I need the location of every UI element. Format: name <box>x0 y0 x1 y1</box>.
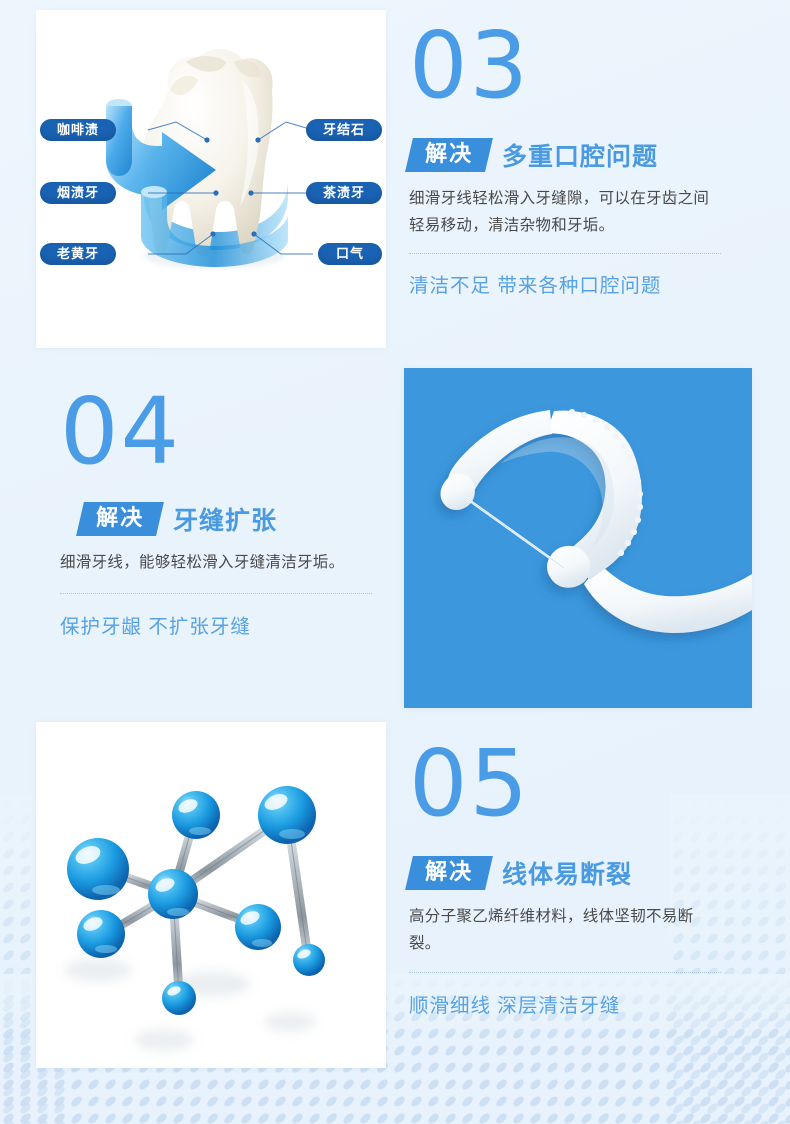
tooth-label-smoke-stain: 烟渍牙 <box>40 182 116 204</box>
section-05-title: 线体易断裂 <box>502 855 632 891</box>
molecule-image-card <box>36 722 386 1068</box>
section-04-body: 细滑牙线，能够轻松滑入牙缝清洁牙垢。 <box>60 550 365 577</box>
tooth-label-bad-breath: 口气 <box>318 243 382 265</box>
section-05-divider <box>409 972 721 973</box>
section-05: 05 解决 线体易断裂 高分子聚乙烯纤维材料，线体坚韧不易断裂。 顺滑细线 深层… <box>409 740 749 1018</box>
section-04-title: 牙缝扩张 <box>173 501 277 537</box>
solve-badge-04: 解决 <box>76 502 164 536</box>
section-03-tagline: 清洁不足 带来各种口腔问题 <box>409 269 749 298</box>
section-05-heading: 解决 线体易断裂 <box>409 855 749 891</box>
section-03-heading: 解决 多重口腔问题 <box>409 137 749 173</box>
tooth-label-tartar: 牙结石 <box>306 119 382 141</box>
section-04: 04 解决 牙缝扩张 细滑牙线，能够轻松滑入牙缝清洁牙垢。 保护牙龈 不扩张牙缝 <box>60 388 390 639</box>
section-03-title: 多重口腔问题 <box>502 137 658 173</box>
solve-badge-03: 解决 <box>405 138 493 172</box>
molecule-illustration <box>36 722 386 1068</box>
floss-pick-illustration <box>404 368 752 708</box>
tooth-illustration <box>36 10 386 348</box>
section-number-03: 03 <box>409 22 749 109</box>
tooth-label-yellow-teeth: 老黄牙 <box>40 243 116 265</box>
tooth-label-coffee-stain: 咖啡渍 <box>40 119 116 141</box>
tooth-diagram-card: 咖啡渍 烟渍牙 老黄牙 牙结石 茶渍牙 口气 <box>36 10 386 348</box>
section-03-divider <box>409 253 721 254</box>
section-03: 03 解决 多重口腔问题 细滑牙线轻松滑入牙缝隙，可以在牙齿之间轻易移动，清洁杂… <box>409 22 749 298</box>
tooth-label-tea-stain: 茶渍牙 <box>306 182 382 204</box>
section-04-tagline: 保护牙龈 不扩张牙缝 <box>60 610 390 639</box>
section-04-heading: 解决 牙缝扩张 <box>80 501 390 537</box>
section-number-05: 05 <box>409 740 749 827</box>
section-05-tagline: 顺滑细线 深层清洁牙缝 <box>409 989 749 1018</box>
section-05-body: 高分子聚乙烯纤维材料，线体坚韧不易断裂。 <box>409 904 714 957</box>
section-number-04: 04 <box>60 388 390 475</box>
solve-badge-05: 解决 <box>405 856 493 890</box>
section-03-body: 细滑牙线轻松滑入牙缝隙，可以在牙齿之间轻易移动，清洁杂物和牙垢。 <box>409 186 714 239</box>
floss-pick-image-card <box>404 368 752 708</box>
section-04-divider <box>60 593 372 594</box>
